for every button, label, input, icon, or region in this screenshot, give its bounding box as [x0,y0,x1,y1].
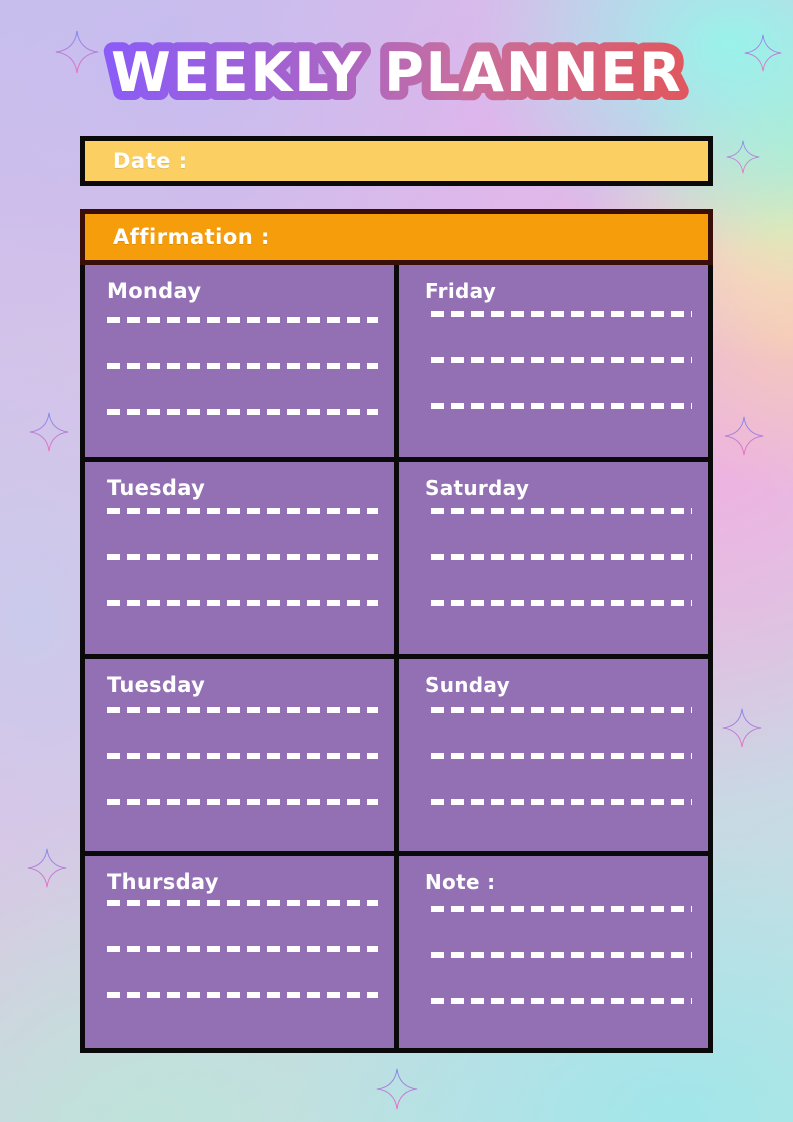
writing-lines [107,900,378,998]
day-cell-label: Tuesday [107,476,378,500]
dashed-write-line[interactable] [107,363,378,369]
day-grid: MondayFridayTuesdaySaturdayTuesdaySunday… [80,265,713,1053]
dashed-write-line[interactable] [107,900,378,906]
planner-sheet: Date : Affirmation : MondayFridayTuesday… [80,136,713,1053]
dashed-write-line[interactable] [431,707,692,713]
affirmation-label: Affirmation : [113,225,270,249]
day-cell-sunday[interactable]: Sunday [399,659,708,851]
day-cell-monday[interactable]: Monday [85,265,394,457]
dashed-write-line[interactable] [431,600,692,606]
dashed-write-line[interactable] [107,707,378,713]
four-point-sparkle-icon [724,416,764,456]
writing-lines [107,317,378,415]
day-cell-label: Sunday [425,673,692,697]
day-cell-thursday[interactable]: Thursday [85,856,394,1048]
dashed-write-line[interactable] [431,906,692,912]
day-cell-label: Friday [425,279,692,303]
date-field[interactable]: Date : [80,136,713,186]
day-cell-tuesday[interactable]: Tuesday [85,462,394,654]
page-title: WEEKLY PLANNER WEEKLY PLANNER [0,36,793,116]
title-fill: WEEKLY PLANNER [111,41,683,104]
day-cell-label: Note : [425,870,692,894]
dashed-write-line[interactable] [107,409,378,415]
page-title-text: WEEKLY PLANNER WEEKLY PLANNER [97,36,697,112]
day-cell-label: Thursday [107,870,378,894]
dashed-write-line[interactable] [431,998,692,1004]
dashed-write-line[interactable] [431,357,692,363]
affirmation-field[interactable]: Affirmation : [80,209,713,265]
writing-lines [425,906,692,1004]
dashed-write-line[interactable] [107,554,378,560]
day-cell-tuesday[interactable]: Tuesday [85,659,394,851]
dashed-write-line[interactable] [107,992,378,998]
dashed-write-line[interactable] [431,799,692,805]
writing-lines [107,707,378,805]
day-cell-label: Saturday [425,476,692,500]
dashed-write-line[interactable] [431,403,692,409]
dashed-write-line[interactable] [431,554,692,560]
four-point-sparkle-icon [726,140,760,174]
day-cell-label: Tuesday [107,673,378,697]
dashed-write-line[interactable] [431,508,692,514]
writing-lines [425,311,692,409]
day-cell-friday[interactable]: Friday [399,265,708,457]
dashed-write-line[interactable] [431,311,692,317]
dashed-write-line[interactable] [107,946,378,952]
writing-lines [107,508,378,606]
planner-page: WEEKLY PLANNER WEEKLY PLANNER Date : Aff… [0,0,793,1122]
day-cell-saturday[interactable]: Saturday [399,462,708,654]
four-point-sparkle-icon [376,1068,418,1110]
dashed-write-line[interactable] [107,317,378,323]
four-point-sparkle-icon [27,848,67,888]
dashed-write-line[interactable] [107,753,378,759]
writing-lines [425,508,692,606]
dashed-write-line[interactable] [431,952,692,958]
date-label: Date : [113,149,188,173]
day-cell-label: Monday [107,279,378,303]
dashed-write-line[interactable] [431,753,692,759]
four-point-sparkle-icon [722,708,762,748]
dashed-write-line[interactable] [107,799,378,805]
dashed-write-line[interactable] [107,508,378,514]
four-point-sparkle-icon [29,412,69,452]
writing-lines [425,707,692,805]
dashed-write-line[interactable] [107,600,378,606]
day-cell-note[interactable]: Note : [399,856,708,1048]
